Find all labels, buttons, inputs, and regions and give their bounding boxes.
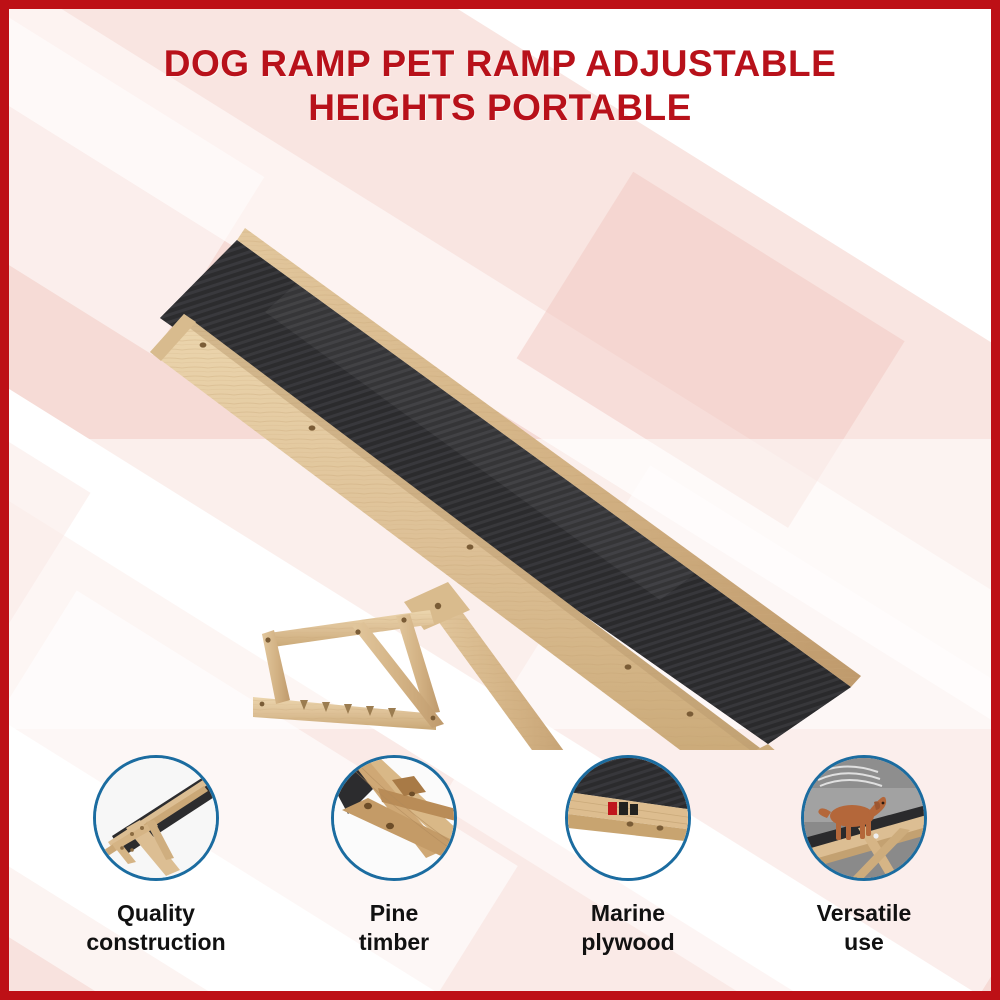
feature-label-line-1: Quality <box>86 899 225 928</box>
feature-label-versatile-use: Versatile use <box>817 899 912 957</box>
ramp-side-view-icon <box>96 758 219 881</box>
feature-label-line-2: use <box>817 928 912 957</box>
feature-label-line-2: construction <box>86 928 225 957</box>
feature-versatile-use: Versatile use <box>742 755 986 970</box>
timber-joint-icon <box>334 758 457 881</box>
feature-label-marine-plywood: Marine plywood <box>581 899 674 957</box>
feature-image-quality-construction <box>93 755 219 881</box>
feature-quality-construction: Quality construction <box>34 755 278 970</box>
feature-label-line-2: timber <box>359 928 429 957</box>
ramp-illustration <box>0 140 1000 750</box>
feature-image-marine-plywood <box>565 755 691 881</box>
feature-label-quality-construction: Quality construction <box>86 899 225 957</box>
feature-pine-timber: Pine timber <box>272 755 516 970</box>
hinge-screw <box>435 603 441 609</box>
feature-label-line-1: Pine <box>359 899 429 928</box>
title-line-2: HEIGHTS PORTABLE <box>0 86 1000 130</box>
feature-label-pine-timber: Pine timber <box>359 899 429 957</box>
feature-label-line-1: Marine <box>581 899 674 928</box>
product-title: DOG RAMP PET RAMP ADJUSTABLE HEIGHTS POR… <box>0 42 1000 130</box>
feature-label-line-2: plywood <box>581 928 674 957</box>
feature-label-line-1: Versatile <box>817 899 912 928</box>
feature-marine-plywood: Marine plywood <box>506 755 750 970</box>
plywood-edge-icon <box>568 758 691 881</box>
title-line-1: DOG RAMP PET RAMP ADJUSTABLE <box>0 42 1000 86</box>
dog-on-ramp-icon <box>804 758 927 881</box>
feature-image-versatile-use <box>801 755 927 881</box>
feature-image-pine-timber <box>331 755 457 881</box>
product-listing-image: DOG RAMP PET RAMP ADJUSTABLE HEIGHTS POR… <box>0 0 1000 1000</box>
hero-product-image <box>0 140 1000 750</box>
feature-strip: Quality construction <box>14 755 986 970</box>
